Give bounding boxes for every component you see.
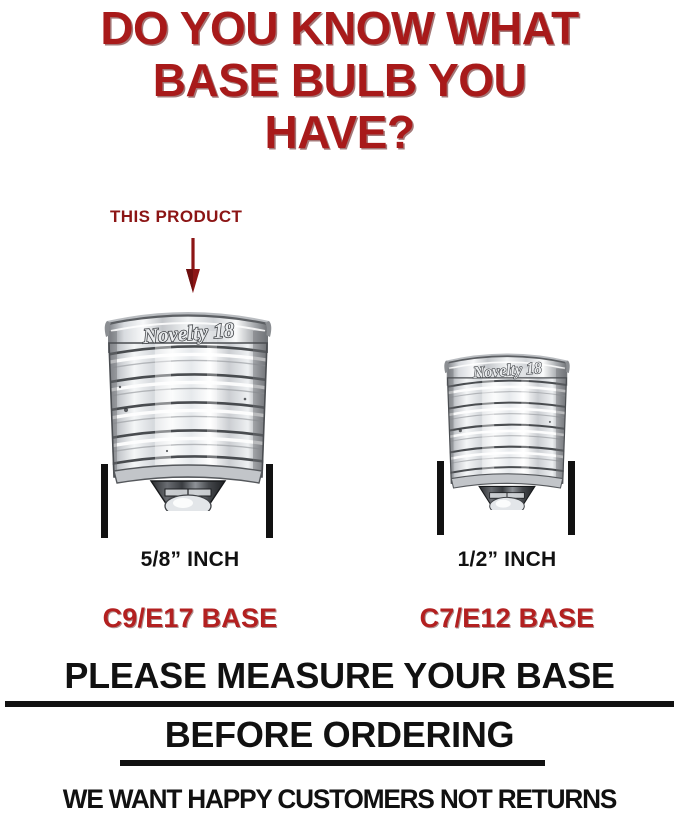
headline-line-1: DO YOU KNOW WHAT bbox=[0, 2, 679, 54]
headline-line-2: BASE BULB YOU bbox=[0, 54, 679, 106]
base-type-label-c9e17: C9/E17 BASE bbox=[20, 603, 360, 634]
footer-underline-1 bbox=[5, 701, 674, 707]
footer-line-2: BEFORE ORDERING bbox=[0, 714, 679, 756]
measure-tick-left-c7e12 bbox=[437, 461, 444, 535]
footer-line-1: PLEASE MEASURE YOUR BASE bbox=[0, 655, 679, 697]
measure-tick-left-c9e17 bbox=[101, 464, 108, 538]
footer-underline-2 bbox=[120, 760, 545, 766]
bulb-base-image-c7e12: Novelty 18 bbox=[443, 337, 571, 510]
page-title: DO YOU KNOW WHAT BASE BULB YOU HAVE? bbox=[0, 2, 679, 158]
bulb-base-image-c9e17: Novelty 18 bbox=[103, 291, 273, 511]
measure-tick-right-c7e12 bbox=[568, 461, 575, 535]
measurement-label-c7e12: 1/2” INCH bbox=[357, 548, 657, 572]
infographic-canvas: DO YOU KNOW WHAT BASE BULB YOU HAVE? THI… bbox=[0, 0, 679, 823]
bulb-figure-c9e17: Novelty 18 bbox=[103, 291, 273, 511]
headline-line-3: HAVE? bbox=[0, 106, 679, 158]
footer-line-3: WE WANT HAPPY CUSTOMERS NOT RETURNS bbox=[10, 784, 669, 815]
measure-tick-right-c9e17 bbox=[266, 464, 273, 538]
down-arrow-icon bbox=[185, 238, 201, 293]
measurement-label-c9e17: 5/8” INCH bbox=[40, 548, 340, 572]
bulb-figure-c7e12: Novelty 18 bbox=[443, 337, 571, 510]
this-product-callout-label: THIS PRODUCT bbox=[110, 207, 242, 227]
base-type-label-c7e12: C7/E12 BASE bbox=[337, 603, 677, 634]
